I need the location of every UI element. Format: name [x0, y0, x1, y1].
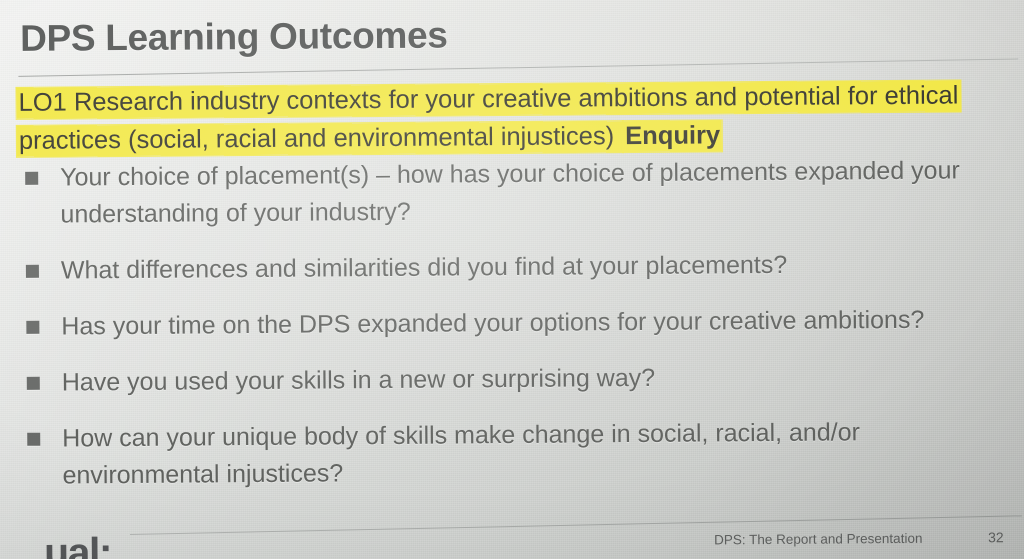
slide-photograph: DPS Learning Outcomes LO1 Research indus…	[0, 0, 1024, 559]
list-item: Have you used your skills in a new or su…	[27, 357, 1007, 402]
page-number: 32	[988, 529, 1004, 545]
square-bullet-icon	[26, 321, 39, 334]
square-bullet-icon	[26, 265, 39, 278]
learning-outcome-text-line1: LO1 Research industry contexts for your …	[16, 80, 960, 118]
square-bullet-icon	[27, 433, 40, 446]
title-divider	[18, 58, 1018, 76]
list-item-text: What differences and similarities did yo…	[61, 247, 788, 290]
list-item-text: Your choice of placement(s) – how has yo…	[60, 152, 976, 233]
list-item: What differences and similarities did yo…	[26, 245, 1006, 290]
list-item: How can your unique body of skills make …	[27, 413, 1008, 495]
learning-outcome-block: LO1 Research industry contexts for your …	[16, 76, 1021, 160]
footer-label: DPS: The Report and Presentation	[714, 531, 922, 548]
list-item-text: How can your unique body of skills make …	[62, 413, 978, 494]
slide-content: DPS Learning Outcomes LO1 Research indus…	[0, 0, 1024, 559]
learning-outcome-keyword-enquiry: Enquiry	[623, 120, 722, 152]
list-item: Your choice of placement(s) – how has yo…	[25, 152, 1006, 234]
ual-logo: ual:	[44, 532, 111, 559]
learning-outcome-text-line2: practices (social, racial and environmen…	[17, 121, 624, 157]
list-item-text: Has your time on the DPS expanded your o…	[61, 302, 924, 346]
square-bullet-icon	[27, 377, 40, 390]
list-item: Has your time on the DPS expanded your o…	[26, 301, 1006, 346]
page-title: DPS Learning Outcomes	[20, 14, 448, 59]
square-bullet-icon	[25, 172, 38, 185]
list-item-text: Have you used your skills in a new or su…	[62, 360, 656, 402]
bullet-list: Your choice of placement(s) – how has yo…	[25, 152, 1008, 514]
learning-outcome-line-1: LO1 Research industry contexts for your …	[16, 76, 1020, 122]
